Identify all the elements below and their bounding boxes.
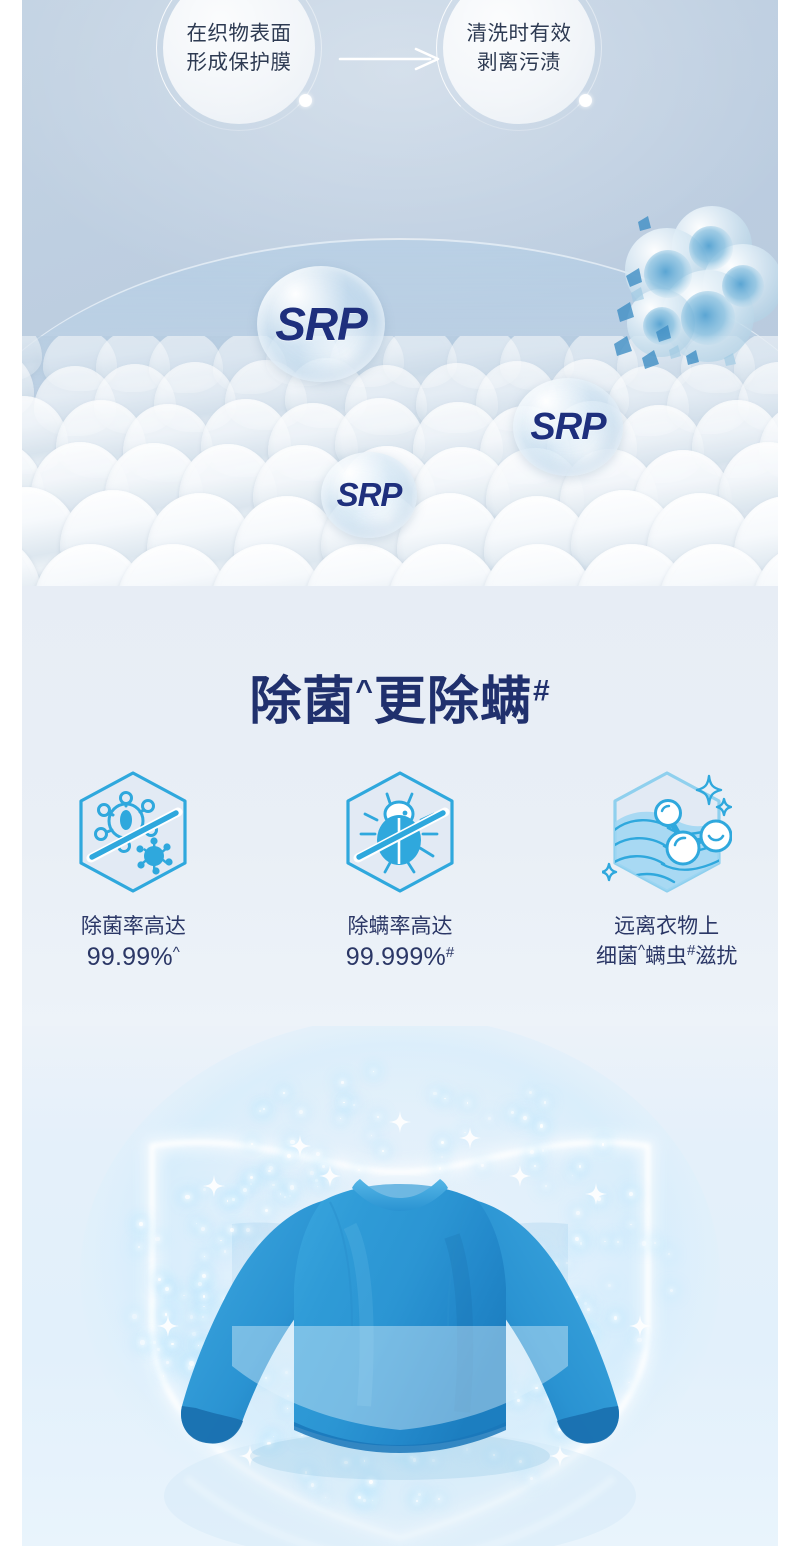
srp-bubble-1: SRP bbox=[257, 266, 385, 382]
srp-logo-text: SRP bbox=[337, 476, 402, 514]
shield-garment-section bbox=[0, 1026, 800, 1546]
callout-strip: 清洗时有效 剥离污渍 bbox=[443, 0, 595, 124]
feature-list: 除菌率高达 99.99%^ bbox=[0, 768, 800, 974]
feature-clean-fabric-label: 远离衣物上 细菌^螨虫#滋扰 bbox=[596, 913, 737, 970]
hex-icon-wrap bbox=[335, 768, 465, 896]
page-margin-right bbox=[778, 586, 800, 1026]
feature-line-1: 除菌率高达 bbox=[81, 913, 186, 941]
srp-bubble-2: SRP bbox=[513, 378, 623, 476]
hero-fabric-section: SRP SRP SRP 在织物表面 形成保护膜 清洗时有效 剥离污渍 bbox=[0, 0, 800, 586]
feature-sterilization-label: 除菌率高达 99.99%^ bbox=[81, 913, 186, 974]
hex-icon-wrap bbox=[68, 768, 198, 896]
feature-value: 99.999% bbox=[346, 943, 446, 971]
mite-blocked-icon bbox=[335, 768, 465, 896]
feature-sup: # bbox=[446, 944, 454, 961]
srp-logo-text: SRP bbox=[530, 406, 605, 449]
clean-fabric-icon bbox=[602, 768, 732, 896]
feature-sup: ^ bbox=[173, 944, 180, 961]
headline-sup-1: ^ bbox=[355, 675, 374, 708]
feature-line-1: 除螨率高达 bbox=[346, 913, 454, 941]
virus-blocked-icon bbox=[68, 768, 198, 896]
feature-value: 99.99% bbox=[87, 943, 173, 971]
callout-film-line1: 在织物表面 bbox=[187, 19, 292, 48]
srp-bubble-3: SRP bbox=[321, 452, 417, 538]
page-margin-left bbox=[0, 1026, 22, 1546]
headline-part-2: 更除螨 bbox=[374, 673, 533, 731]
callout-strip-line1: 清洗时有效 bbox=[467, 19, 572, 48]
callout-strip-line2: 剥离污渍 bbox=[467, 48, 572, 77]
feature-mite-removal-label: 除螨率高达 99.999%# bbox=[346, 913, 454, 974]
bacteria-cluster-icon bbox=[612, 198, 794, 378]
srp-logo-text: SRP bbox=[275, 297, 367, 351]
feature-sterilization: 除菌率高达 99.99%^ bbox=[0, 768, 267, 974]
blue-longsleeve-shirt bbox=[0, 1026, 800, 1546]
page-margin-right bbox=[778, 1026, 800, 1546]
feature-line-2b: 螨虫 bbox=[645, 945, 687, 968]
feature-line-2c: 滋扰 bbox=[695, 945, 737, 968]
claims-section: 除菌^更除螨# bbox=[0, 586, 800, 1026]
callout-dot bbox=[299, 94, 312, 107]
arrow-right-icon bbox=[338, 47, 448, 71]
callout-dot bbox=[579, 94, 592, 107]
feature-line-1: 远离衣物上 bbox=[596, 913, 737, 941]
feature-sup-2a: ^ bbox=[638, 942, 645, 959]
feature-clean-fabric: 远离衣物上 细菌^螨虫#滋扰 bbox=[533, 768, 800, 974]
page-margin-right bbox=[778, 0, 800, 586]
feature-mite-removal: 除螨率高达 99.999%# bbox=[267, 768, 534, 974]
page-title: 除菌^更除螨# bbox=[0, 659, 800, 734]
headline-sup-2: # bbox=[533, 675, 551, 708]
callout-film: 在织物表面 形成保护膜 bbox=[163, 0, 315, 124]
feature-line-2a: 细菌 bbox=[596, 945, 638, 968]
page-margin-left bbox=[0, 0, 22, 586]
hex-icon-wrap bbox=[602, 768, 732, 896]
headline-part-1: 除菌 bbox=[249, 673, 355, 731]
page-margin-left bbox=[0, 586, 22, 1026]
callout-film-line2: 形成保护膜 bbox=[187, 48, 292, 77]
